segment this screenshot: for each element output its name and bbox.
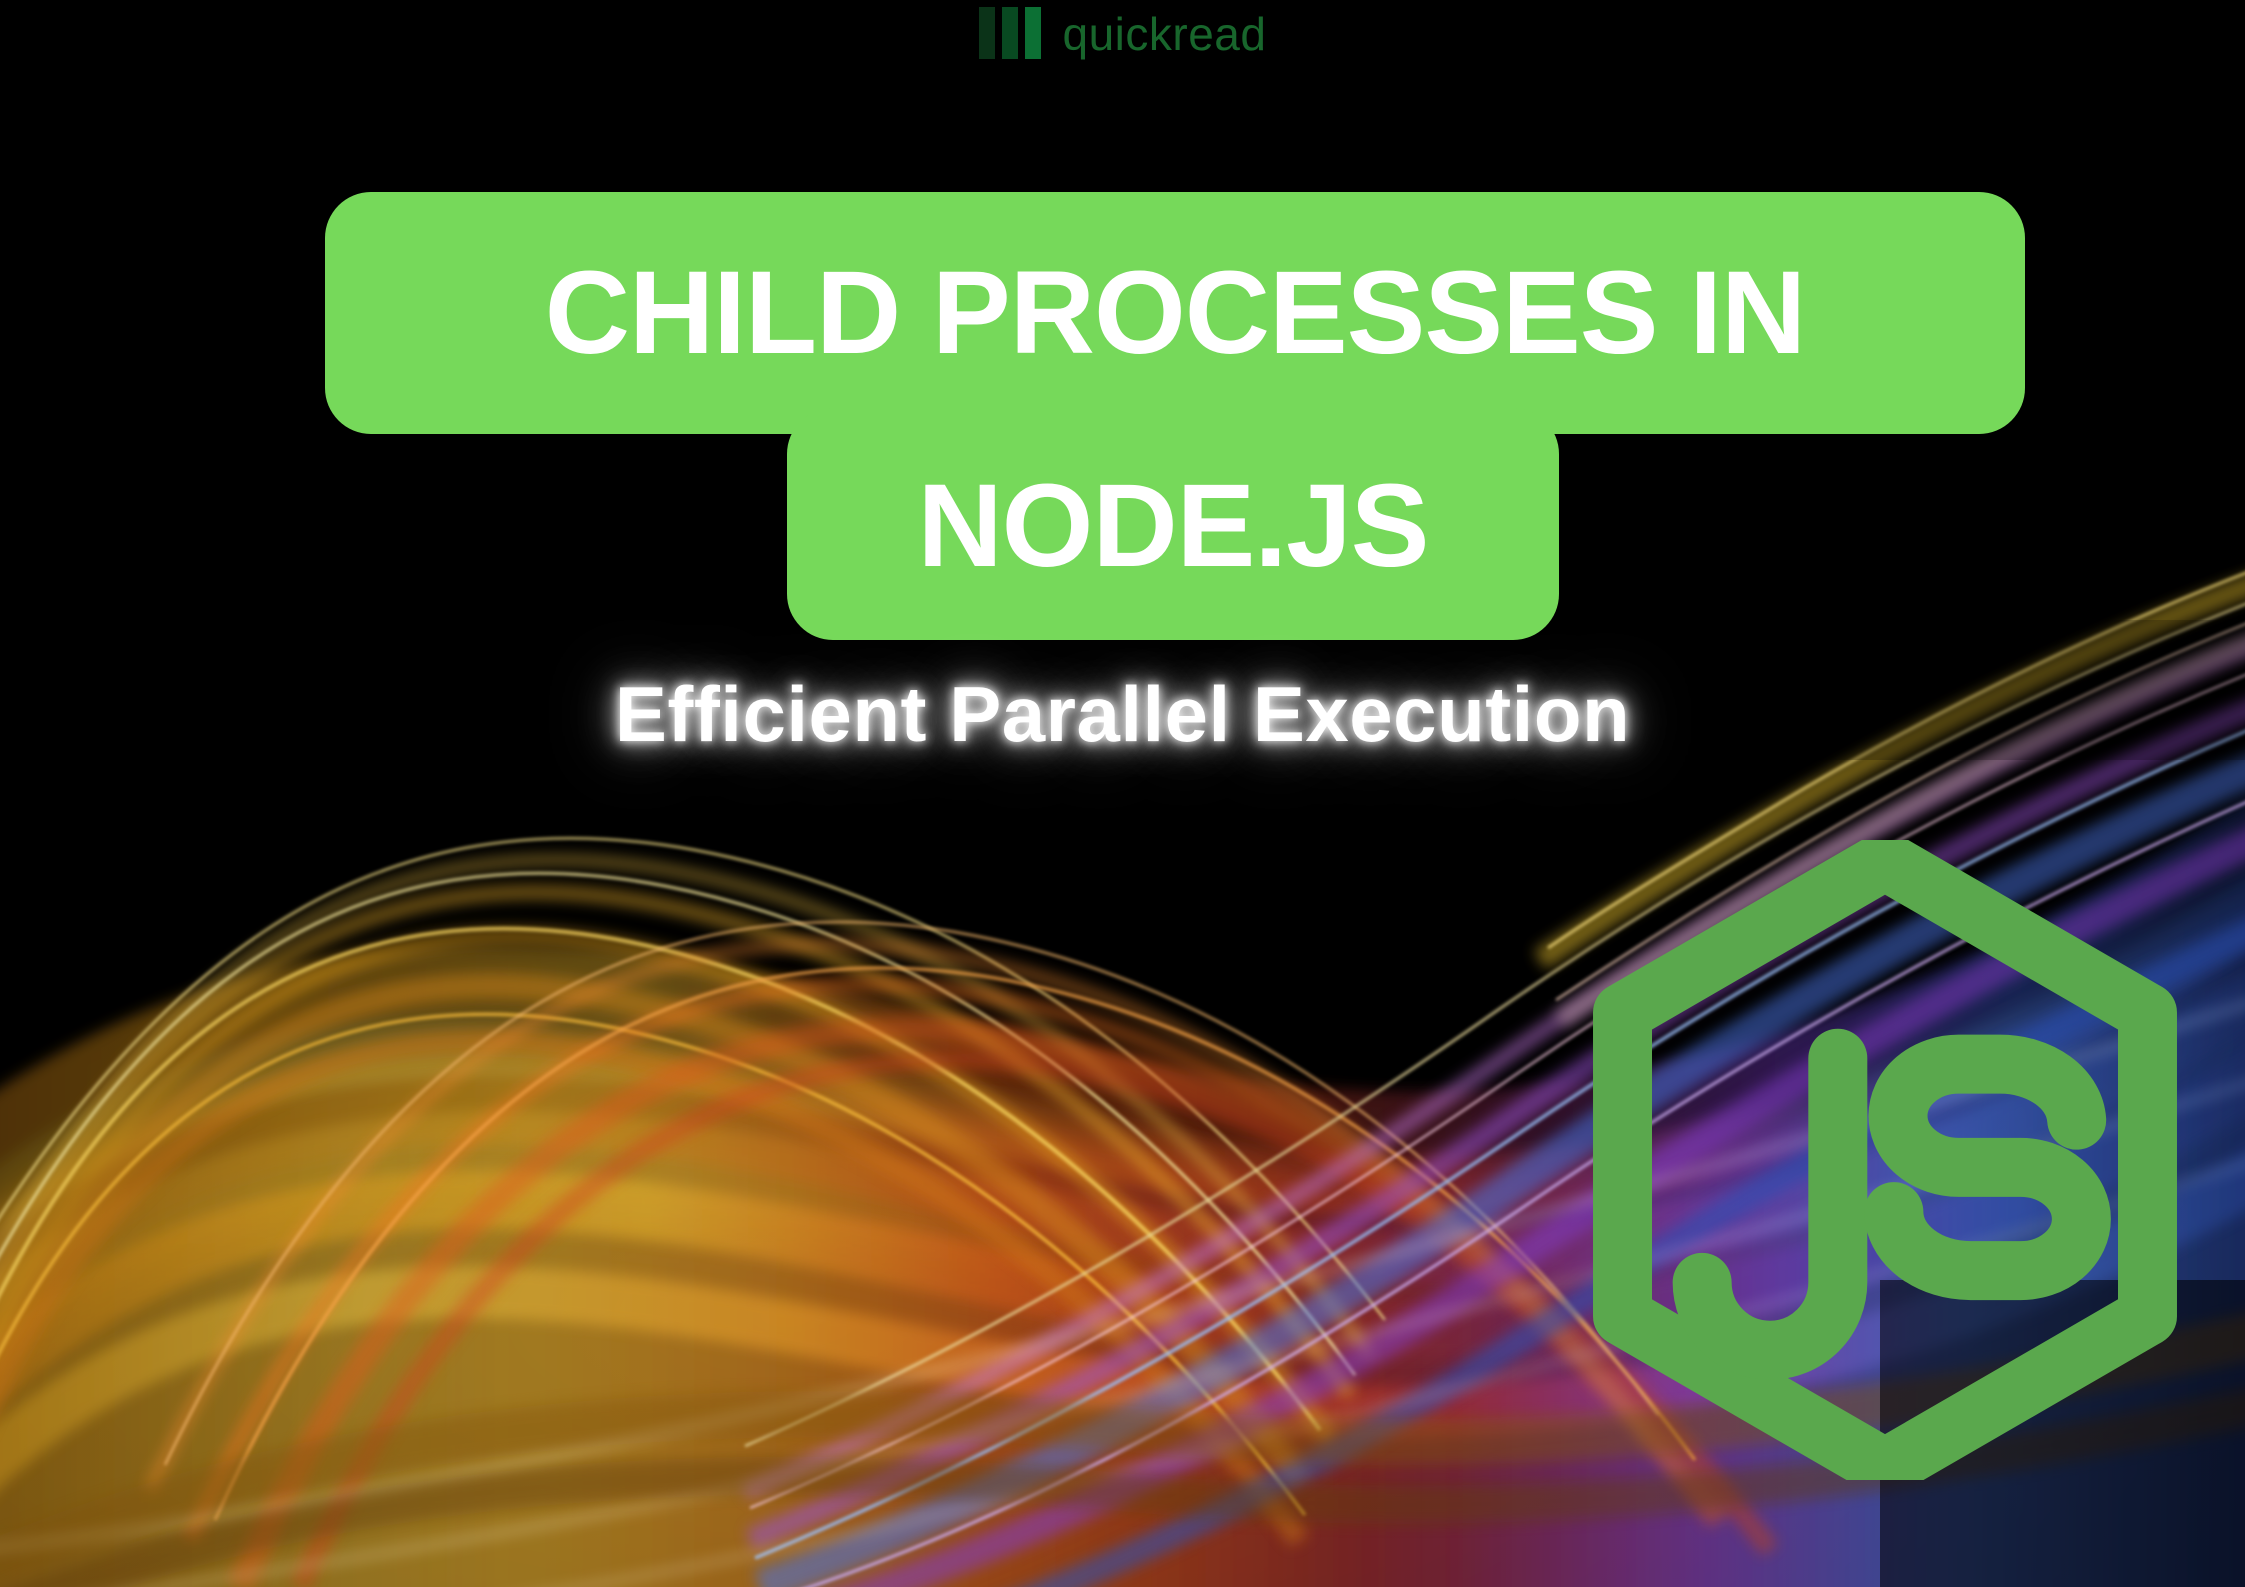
nodejs-hexagon-js-logo-icon bbox=[1590, 840, 2180, 1480]
title-banner-line-1: CHILD PROCESSES IN bbox=[325, 192, 2025, 434]
title-banner-group: CHILD PROCESSES IN NODE.JS bbox=[0, 0, 2245, 700]
three-bars-icon bbox=[979, 7, 1041, 59]
page-title-line-1: CHILD PROCESSES IN bbox=[545, 254, 1806, 372]
poster-canvas: quickread CHILD PROCESSES IN NODE.JS Eff… bbox=[0, 0, 2245, 1587]
page-subtitle: Efficient Parallel Execution bbox=[0, 672, 2245, 758]
page-title-line-2: NODE.JS bbox=[917, 467, 1428, 585]
title-banner-line-2: NODE.JS bbox=[787, 408, 1559, 640]
brand-header: quickread bbox=[0, 0, 2245, 70]
brand-wordmark: quickread bbox=[1063, 11, 1267, 57]
